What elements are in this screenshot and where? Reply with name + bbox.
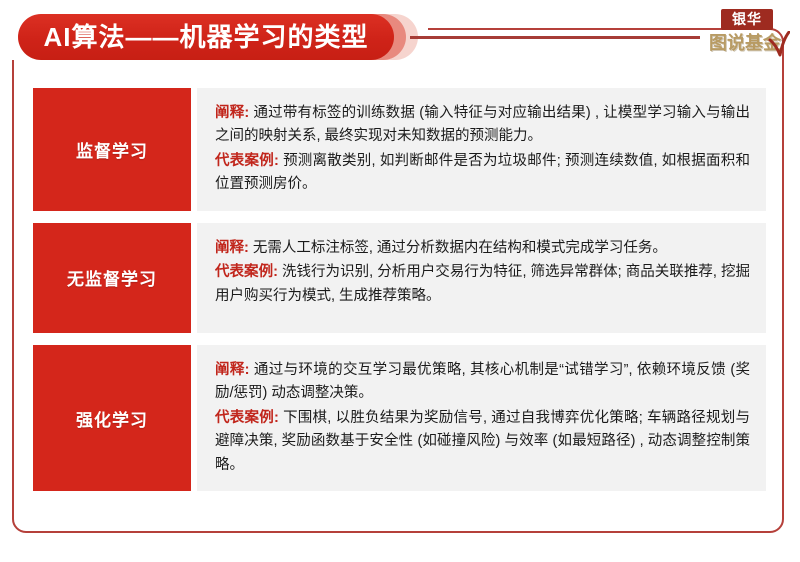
paragraph-tag: 代表案例:	[215, 264, 278, 280]
page-title: AI算法——机器学习的类型	[18, 14, 394, 60]
paragraph-definition: 阐释: 无需人工标注标签, 通过分析数据内在结构和模式完成学习任务。	[215, 237, 750, 260]
logo-company-name: 银华	[721, 9, 773, 30]
row-label-supervised: 监督学习	[33, 88, 191, 211]
paragraph-text: 通过与环境的交互学习最优策略, 其核心机制是“试错学习”, 依赖环境反馈 (奖励…	[215, 362, 750, 401]
row-body-reinforcement: 阐释: 通过与环境的交互学习最优策略, 其核心机制是“试错学习”, 依赖环境反馈…	[197, 345, 766, 491]
paragraph-tag: 阐释:	[215, 105, 249, 121]
paragraph-tag: 阐释:	[215, 240, 249, 256]
row-body-unsupervised: 阐释: 无需人工标注标签, 通过分析数据内在结构和模式完成学习任务。 代表案例:…	[197, 223, 766, 333]
header-divider-line	[410, 36, 700, 39]
row-label-reinforcement: 强化学习	[33, 345, 191, 491]
content-rows: 监督学习 阐释: 通过带有标签的训练数据 (输入特征与对应输出结果) , 让模型…	[33, 88, 766, 491]
slide-root: AI算法——机器学习的类型 银华 图说基金 监督学习 阐释: 通过带有标签的训练…	[0, 0, 800, 562]
table-row: 无监督学习 阐释: 无需人工标注标签, 通过分析数据内在结构和模式完成学习任务。…	[33, 223, 766, 333]
paragraph-examples: 代表案例: 下围棋, 以胜负结果为奖励信号, 通过自我博弈优化策略; 车辆路径规…	[215, 407, 750, 477]
paragraph-text: 下围棋, 以胜负结果为奖励信号, 通过自我博弈优化策略; 车辆路径规划与避障决策…	[215, 410, 750, 473]
paragraph-tag: 代表案例:	[215, 410, 279, 426]
paragraph-text: 通过带有标签的训练数据 (输入特征与对应输出结果) , 让模型学习输入与输出之间…	[215, 105, 750, 144]
slide-header: AI算法——机器学习的类型 银华 图说基金	[0, 0, 800, 70]
brand-logo: 银华 图说基金	[706, 9, 790, 59]
paragraph-text: 预测离散类别, 如判断邮件是否为垃圾邮件; 预测连续数值, 如根据面积和位置预测…	[215, 153, 750, 192]
paragraph-examples: 代表案例: 洗钱行为识别, 分析用户交易行为特征, 筛选异常群体; 商品关联推荐…	[215, 261, 750, 308]
paragraph-examples: 代表案例: 预测离散类别, 如判断邮件是否为垃圾邮件; 预测连续数值, 如根据面…	[215, 150, 750, 197]
table-row: 监督学习 阐释: 通过带有标签的训练数据 (输入特征与对应输出结果) , 让模型…	[33, 88, 766, 211]
paragraph-tag: 代表案例:	[215, 153, 279, 169]
paragraph-definition: 阐释: 通过与环境的交互学习最优策略, 其核心机制是“试错学习”, 依赖环境反馈…	[215, 359, 750, 406]
paragraph-tag: 阐释:	[215, 362, 250, 378]
table-row: 强化学习 阐释: 通过与环境的交互学习最优策略, 其核心机制是“试错学习”, 依…	[33, 345, 766, 491]
row-body-supervised: 阐释: 通过带有标签的训练数据 (输入特征与对应输出结果) , 让模型学习输入与…	[197, 88, 766, 211]
paragraph-definition: 阐释: 通过带有标签的训练数据 (输入特征与对应输出结果) , 让模型学习输入与…	[215, 102, 750, 149]
check-icon	[768, 31, 790, 57]
paragraph-text: 无需人工标注标签, 通过分析数据内在结构和模式完成学习任务。	[249, 240, 667, 256]
row-label-unsupervised: 无监督学习	[33, 223, 191, 333]
paragraph-text: 洗钱行为识别, 分析用户交易行为特征, 筛选异常群体; 商品关联推荐, 挖掘用户…	[215, 264, 750, 303]
